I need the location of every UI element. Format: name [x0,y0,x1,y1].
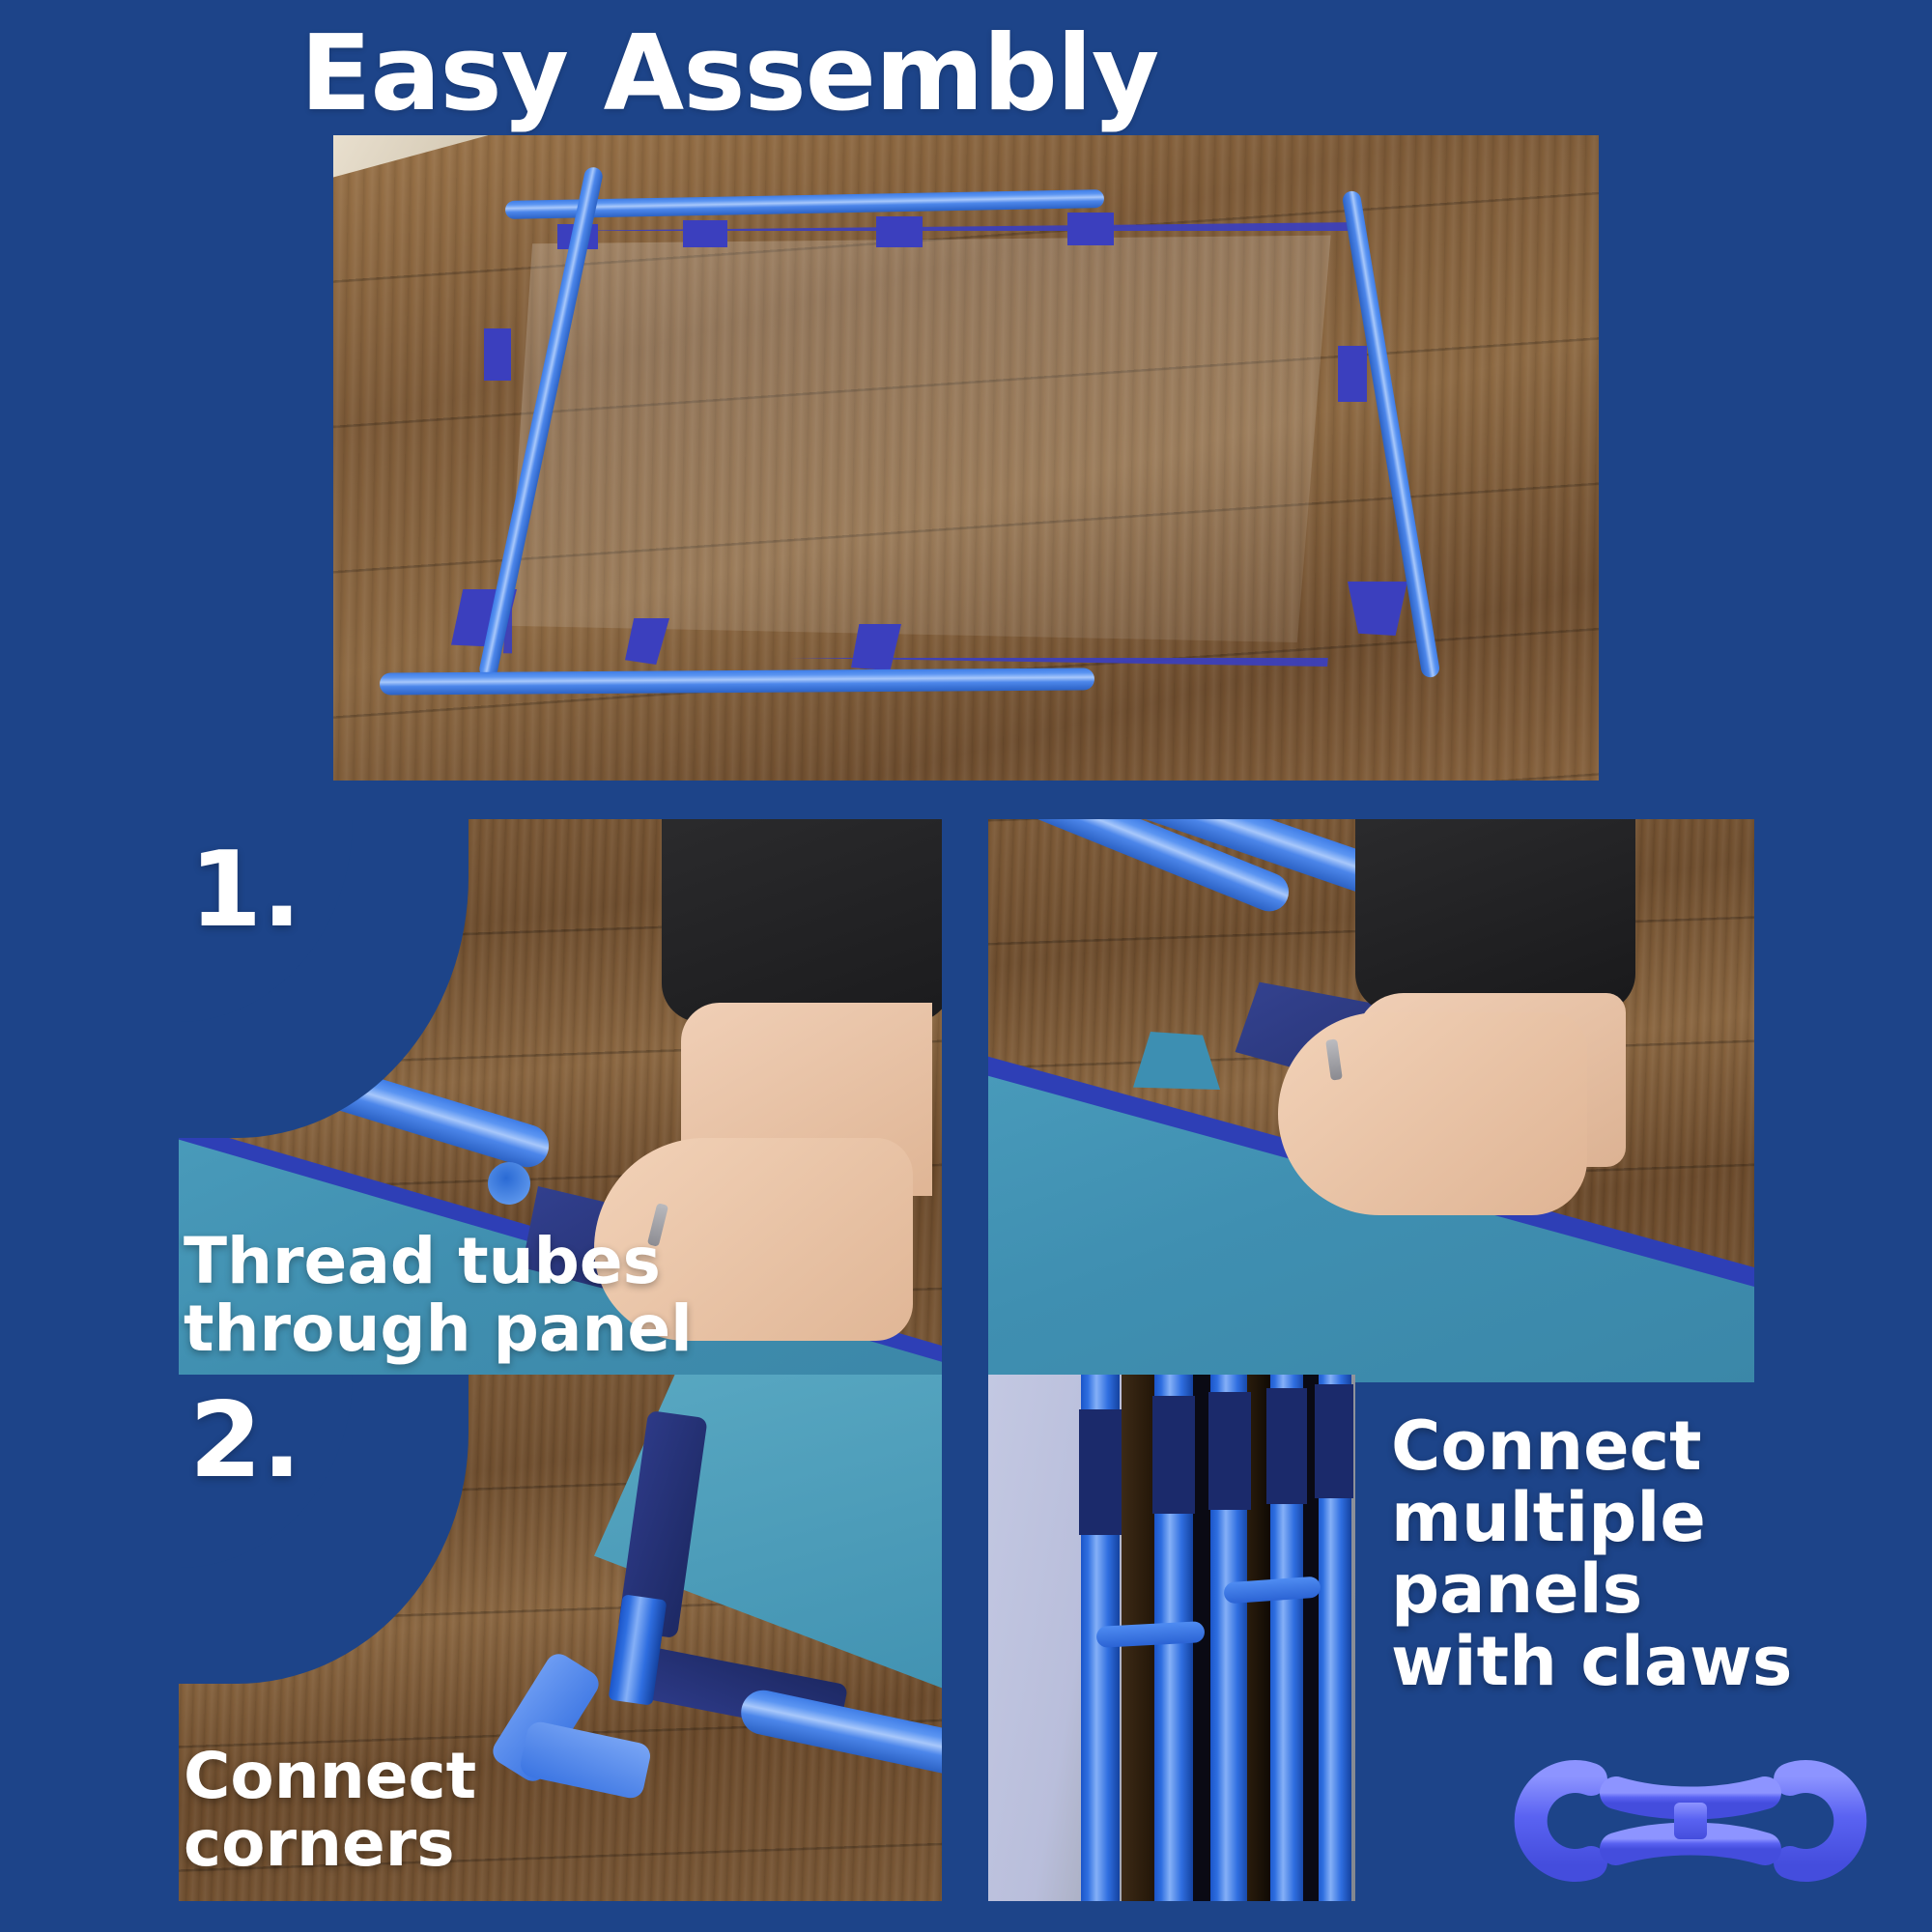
step1-number: 1. [189,838,301,943]
panel-fabric-border [503,222,1371,667]
step1-caption: Thread tubes through panel [179,1228,918,1363]
sleeve-tab [683,220,727,247]
page-title: Easy Assembly [0,19,1459,128]
claws-caption: Connect multiple panels with claws [1391,1410,1932,1697]
fabric-sleeve [1266,1388,1307,1504]
claw-connector-icon [1502,1739,1879,1903]
fabric-sleeve [1152,1396,1195,1514]
fabric-sleeve [1315,1384,1353,1498]
sleeve-tab [876,216,923,247]
sleeve-tab [1067,213,1114,245]
hand [1278,1012,1587,1215]
claws-photo [988,1375,1355,1901]
step2-number: 2. [189,1389,301,1493]
hero-frame-photo [333,135,1599,781]
fabric-sleeve [1208,1392,1251,1510]
step1-right-photo [988,819,1754,1382]
jacket-cuff [1355,819,1635,1012]
poster-canvas: Easy Assembly [0,0,1932,1932]
jacket-cuff [662,819,942,1022]
step2-caption: Connect corners [184,1743,898,1878]
fabric-sleeve [1079,1409,1122,1535]
sleeve-tab [1338,346,1367,402]
sleeve-tab [484,328,511,381]
